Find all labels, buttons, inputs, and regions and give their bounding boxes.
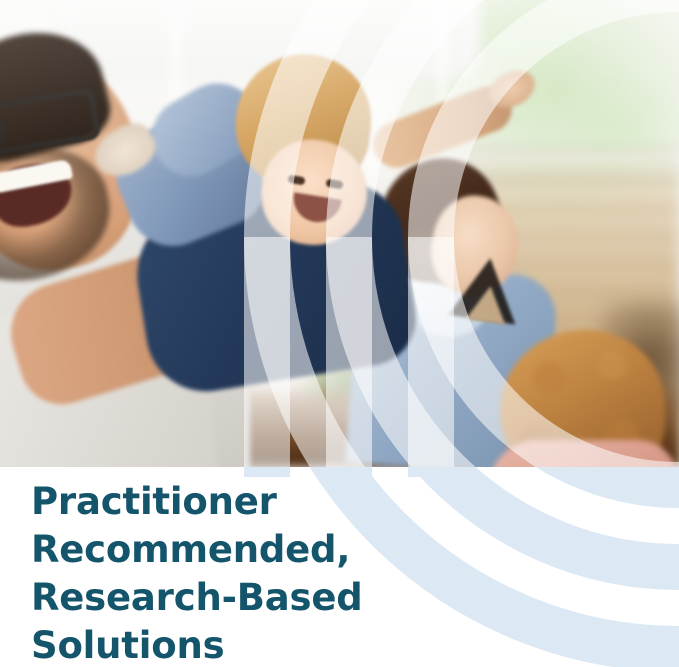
hero-photo: [0, 0, 679, 467]
page-title: Practitioner Recommended, Research-Based…: [31, 478, 451, 667]
promo-banner: Practitioner Recommended, Research-Based…: [0, 0, 679, 667]
photo-canvas: [0, 0, 679, 467]
girl-shoulder: [488, 440, 678, 467]
triangle-object-inner: [466, 283, 511, 324]
